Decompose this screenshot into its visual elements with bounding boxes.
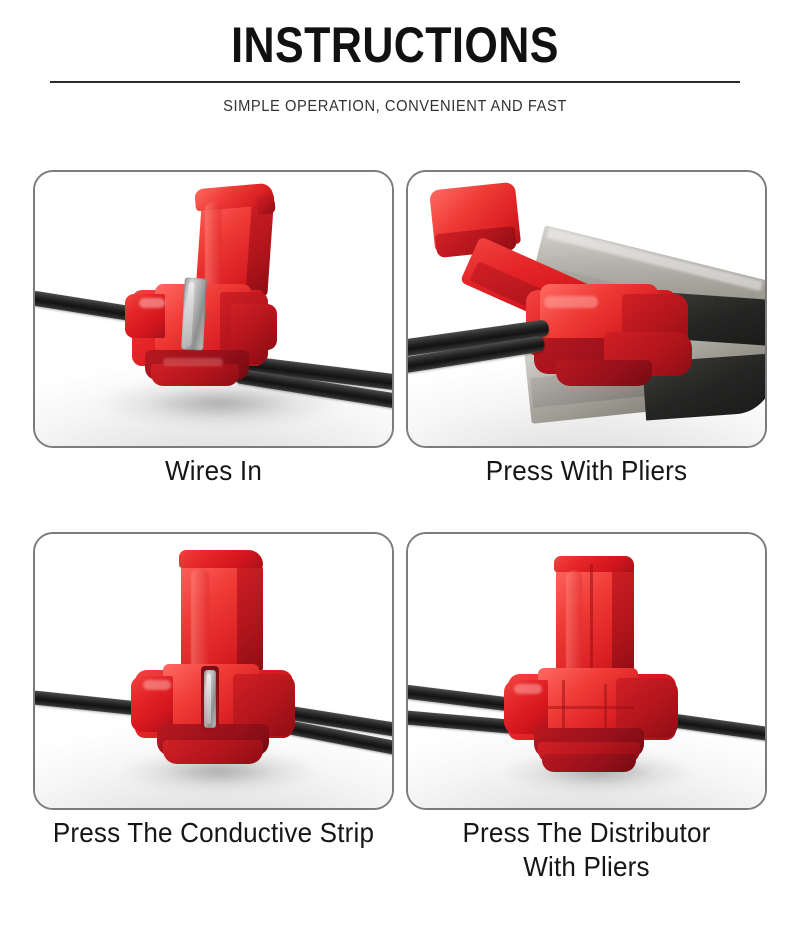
photo-closed-distributor-icon: [408, 534, 765, 808]
step-caption-2: Press With Pliers: [419, 454, 755, 488]
photo-wires-in-icon: [35, 172, 392, 446]
step-image-panel-4: [406, 532, 767, 810]
step-card-1: Wires In: [33, 170, 394, 448]
page-header: INSTRUCTIONS SIMPLE OPERATION, CONVENIEN…: [0, 0, 790, 140]
header-divider: [50, 81, 740, 83]
step-card-2: Press With Pliers: [406, 170, 767, 448]
instructions-page: INSTRUCTIONS SIMPLE OPERATION, CONVENIEN…: [0, 0, 790, 937]
step-card-3: Press The Conductive Strip: [33, 532, 394, 810]
step-card-4: Press The Distributor With Pliers: [406, 532, 767, 810]
step-image-panel-2: [406, 170, 767, 448]
photo-conductive-strip-icon: [35, 534, 392, 808]
step-image-panel-1: [33, 170, 394, 448]
photo-press-with-pliers-icon: [408, 172, 765, 446]
step-caption-1: Wires In: [46, 454, 382, 488]
steps-grid: Wires In: [0, 140, 790, 937]
step-image-panel-3: [33, 532, 394, 810]
page-subtitle: SIMPLE OPERATION, CONVENIENT AND FAST: [32, 96, 759, 118]
step-caption-4: Press The Distributor With Pliers: [419, 816, 755, 884]
page-title: INSTRUCTIONS: [55, 18, 734, 72]
step-caption-3: Press The Conductive Strip: [46, 816, 382, 850]
